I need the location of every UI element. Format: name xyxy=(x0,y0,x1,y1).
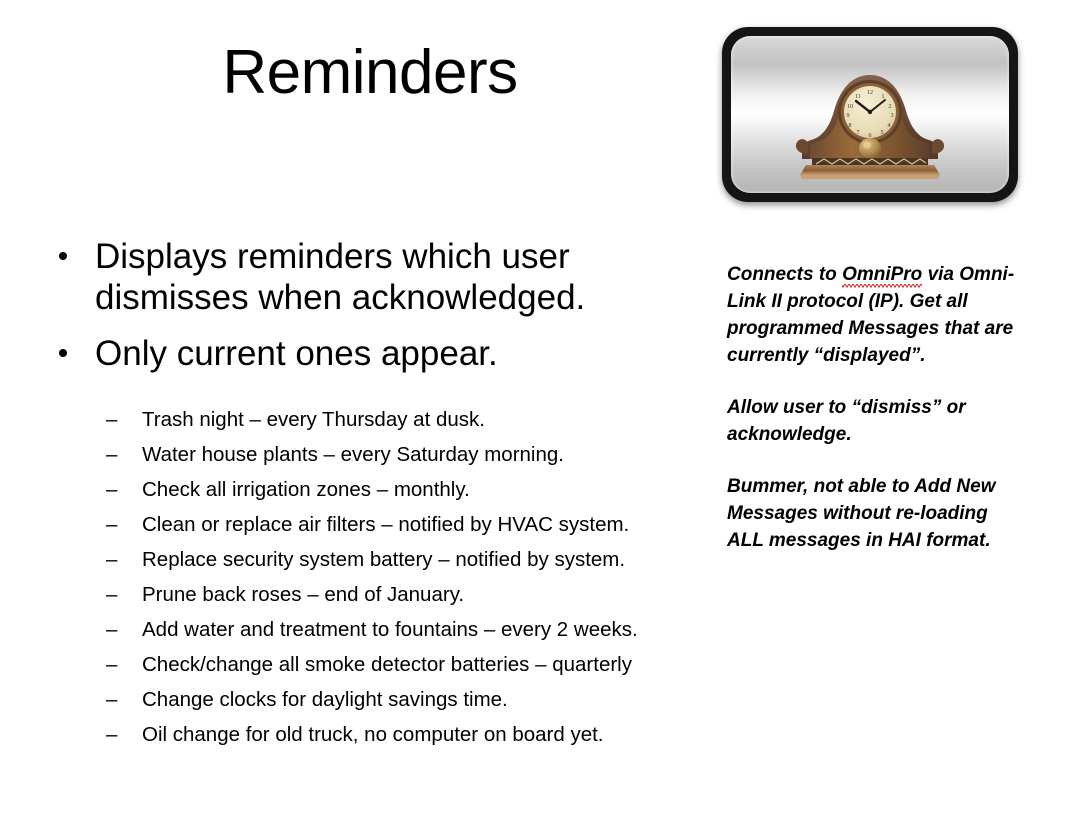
svg-text:2: 2 xyxy=(889,104,892,110)
sub-bullet-text: Trash night – every Thursday at dusk. xyxy=(142,402,485,437)
bullet-dot-icon xyxy=(59,349,67,357)
sub-bullet-item: – Add water and treatment to fountains –… xyxy=(104,612,714,647)
bullet-dash-icon: – xyxy=(106,542,117,577)
sub-bullet-text: Prune back roses – end of January. xyxy=(142,577,464,612)
sub-bullet-item: – Trash night – every Thursday at dusk. xyxy=(104,402,714,437)
bullet-dash-icon: – xyxy=(106,402,117,437)
sub-bullet-item: – Check/change all smoke detector batter… xyxy=(104,647,714,682)
notes-panel: Connects to OmniPro via Omni-Link II pro… xyxy=(727,262,1027,555)
svg-text:1: 1 xyxy=(882,94,885,100)
sub-bullet-list: – Trash night – every Thursday at dusk. … xyxy=(104,402,714,752)
sub-bullet-text: Water house plants – every Saturday morn… xyxy=(142,437,564,472)
mantel-clock-icon: 12 1 2 3 4 5 6 7 8 9 10 11 xyxy=(784,55,956,181)
bullet-dash-icon: – xyxy=(106,507,117,542)
notes-paragraph-3: Bummer, not able to Add New Messages wit… xyxy=(727,474,1027,555)
notes-paragraph-1: Connects to OmniPro via Omni-Link II pro… xyxy=(727,262,1027,370)
sub-bullet-text: Clean or replace air filters – notified … xyxy=(142,507,629,542)
bullet-dash-icon: – xyxy=(106,437,117,472)
svg-text:10: 10 xyxy=(847,104,853,110)
sub-bullet-text: Replace security system battery – notifi… xyxy=(142,542,625,577)
bullet-dash-icon: – xyxy=(106,577,117,612)
clock-image-frame[interactable]: 12 1 2 3 4 5 6 7 8 9 10 11 xyxy=(722,27,1018,202)
bullet-dash-icon: – xyxy=(106,717,117,752)
svg-text:7: 7 xyxy=(857,130,860,136)
svg-text:8: 8 xyxy=(849,123,852,129)
clock-image-bezel: 12 1 2 3 4 5 6 7 8 9 10 11 xyxy=(731,36,1009,193)
bullet-dash-icon: – xyxy=(106,682,117,717)
sub-bullet-item: – Clean or replace air filters – notifie… xyxy=(104,507,714,542)
svg-text:4: 4 xyxy=(888,123,891,129)
main-bullet-item: Only current ones appear. xyxy=(46,333,714,374)
main-bullet-list: Displays reminders which user dismisses … xyxy=(46,236,714,388)
svg-text:5: 5 xyxy=(881,130,884,136)
bullet-dot-icon xyxy=(59,252,67,260)
sub-bullet-item: – Check all irrigation zones – monthly. xyxy=(104,472,714,507)
sub-bullet-text: Check all irrigation zones – monthly. xyxy=(142,472,470,507)
svg-text:12: 12 xyxy=(867,90,873,96)
sub-bullet-text: Oil change for old truck, no computer on… xyxy=(142,717,604,752)
page-title: Reminders xyxy=(40,40,700,105)
bullet-dash-icon: – xyxy=(106,647,117,682)
sub-bullet-item: – Oil change for old truck, no computer … xyxy=(104,717,714,752)
sub-bullet-item: – Change clocks for daylight savings tim… xyxy=(104,682,714,717)
slide-canvas: Reminders xyxy=(0,0,1089,817)
sub-bullet-item: – Prune back roses – end of January. xyxy=(104,577,714,612)
main-bullet-text: Displays reminders which user dismisses … xyxy=(95,237,585,317)
svg-text:11: 11 xyxy=(855,94,861,100)
sub-bullet-text: Check/change all smoke detector batterie… xyxy=(142,647,632,682)
sub-bullet-text: Add water and treatment to fountains – e… xyxy=(142,612,638,647)
sub-bullet-item: – Water house plants – every Saturday mo… xyxy=(104,437,714,472)
misspelled-word: OmniPro xyxy=(842,264,922,288)
svg-text:9: 9 xyxy=(847,113,850,119)
svg-text:3: 3 xyxy=(891,113,894,119)
main-bullet-item: Displays reminders which user dismisses … xyxy=(46,236,714,319)
sub-bullet-item: – Replace security system battery – noti… xyxy=(104,542,714,577)
notes-p1-prefix: Connects to xyxy=(727,264,842,285)
main-bullet-text: Only current ones appear. xyxy=(95,334,498,373)
notes-paragraph-2: Allow user to “dismiss” or acknowledge. xyxy=(727,395,1027,449)
bullet-dash-icon: – xyxy=(106,472,117,507)
bullet-dash-icon: – xyxy=(106,612,117,647)
sub-bullet-text: Change clocks for daylight savings time. xyxy=(142,682,508,717)
